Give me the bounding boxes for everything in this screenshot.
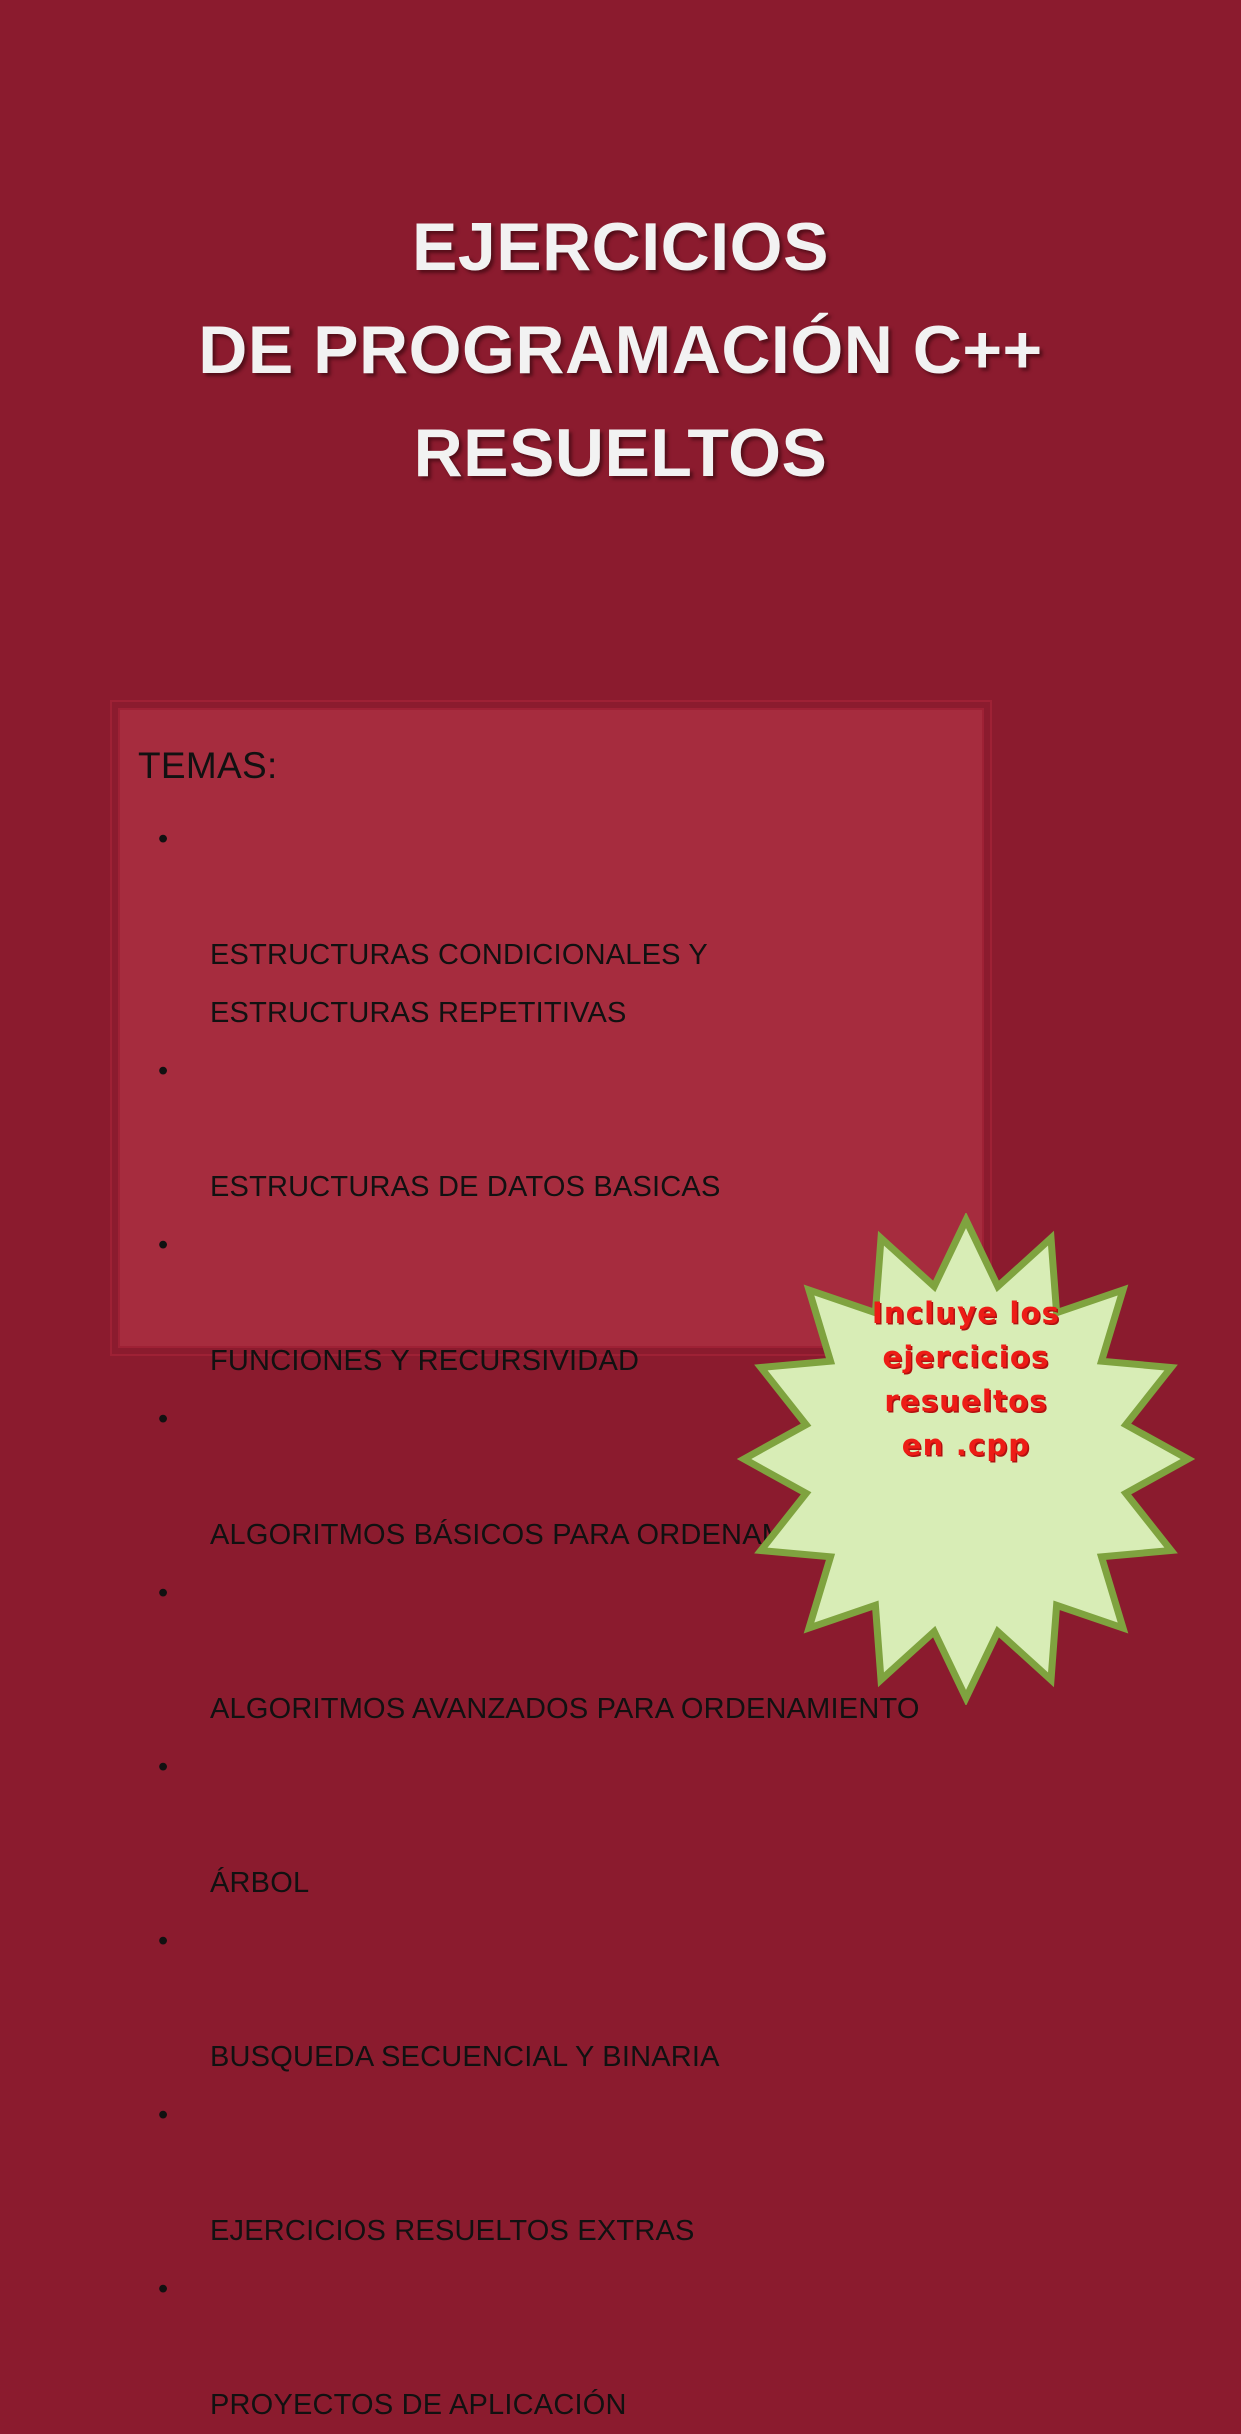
bullet-icon: •: [158, 1738, 168, 1796]
title-line-2: DE PROGRAMACIÓN C++: [60, 299, 1181, 402]
list-item-label: PROYECTOS DE APLICACIÓN: [210, 2389, 627, 2421]
list-item: • BUSQUEDA SECUENCIAL Y BINARIA: [138, 1912, 982, 2086]
list-item-label: BUSQUEDA SECUENCIAL Y BINARIA: [210, 2041, 720, 2073]
list-item-label: ESTRUCTURAS DE DATOS BASICAS: [210, 1171, 721, 1203]
bullet-icon: •: [158, 810, 168, 868]
title-line-1: EJERCICIOS: [60, 196, 1181, 299]
starburst-badge: Incluye los ejercicios resueltos en .cpp: [737, 1213, 1195, 1705]
bullet-icon: •: [158, 1390, 168, 1448]
topics-heading: TEMAS:: [138, 744, 982, 788]
list-item-label: EJERCICIOS RESUELTOS EXTRAS: [210, 2215, 695, 2247]
bullet-icon: •: [158, 1564, 168, 1622]
list-item: • ESTRUCTURAS CONDICIONALES Y ESTRUCTURA…: [138, 810, 982, 1042]
list-item-label: ÁRBOL: [210, 1867, 309, 1899]
list-item-label: ESTRUCTURAS CONDICIONALES Y ESTRUCTURAS …: [210, 939, 708, 1029]
list-item: • PROYECTOS DE APLICACIÓN: [138, 2260, 982, 2434]
cover-page: EJERCICIOS DE PROGRAMACIÓN C++ RESUELTOS…: [0, 0, 1241, 1755]
bullet-icon: •: [158, 2260, 168, 2318]
list-item: • EJERCICIOS RESUELTOS EXTRAS: [138, 2086, 982, 2260]
bullet-icon: •: [158, 2086, 168, 2144]
bullet-icon: •: [158, 1042, 168, 1100]
starburst-icon: [737, 1213, 1195, 1705]
list-item: • ÁRBOL: [138, 1738, 982, 1912]
page-title: EJERCICIOS DE PROGRAMACIÓN C++ RESUELTOS: [0, 196, 1241, 505]
bullet-icon: •: [158, 1912, 168, 1970]
list-item-label: FUNCIONES Y RECURSIVIDAD: [210, 1345, 639, 1377]
title-line-3: RESUELTOS: [60, 402, 1181, 505]
list-item: • ESTRUCTURAS DE DATOS BASICAS: [138, 1042, 982, 1216]
bullet-icon: •: [158, 1216, 168, 1274]
